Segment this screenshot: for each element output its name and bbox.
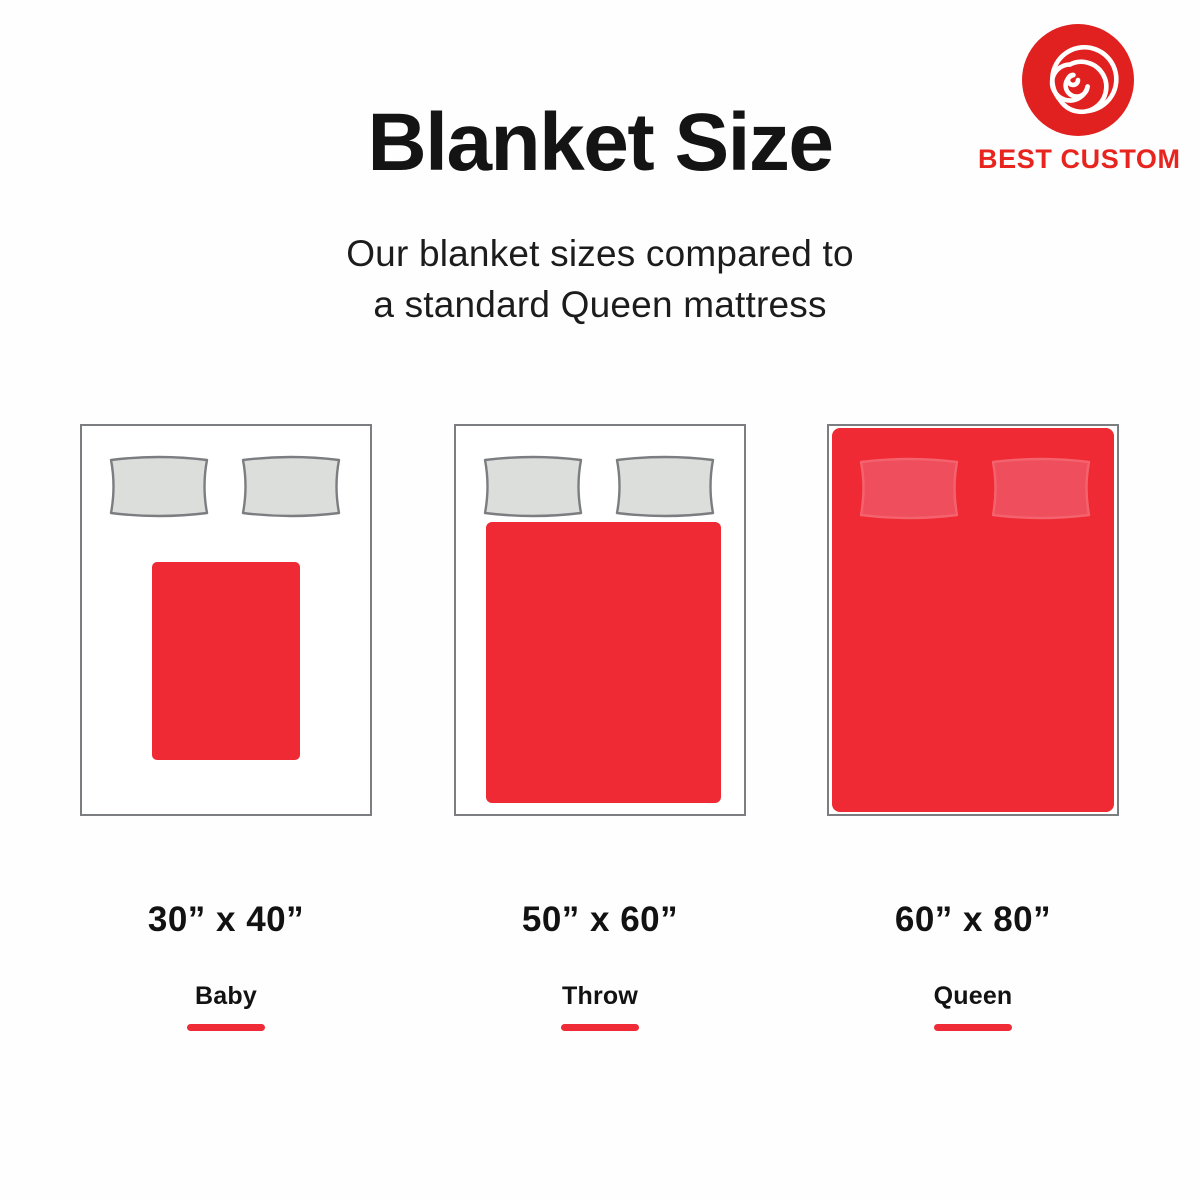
size-name: Throw <box>454 982 746 1011</box>
infographic-canvas: BEST CUSTOM Blanket Size Our blanket siz… <box>0 0 1200 1200</box>
blanket-rectangle-icon <box>152 562 300 760</box>
accent-underline <box>934 1024 1012 1031</box>
size-dimensions: 50” x 60” <box>454 900 746 940</box>
size-caption-baby: 30” x 40” Baby <box>80 900 372 1031</box>
size-dimensions: 30” x 40” <box>80 900 372 940</box>
size-caption-group: 30” x 40” Baby 50” x 60” Throw 60” x 80”… <box>0 900 1200 1060</box>
pillow-icon <box>479 453 587 520</box>
size-caption-queen: 60” x 80” Queen <box>827 900 1119 1031</box>
blanket-rectangle-icon <box>832 428 1114 812</box>
accent-underline <box>187 1024 265 1031</box>
pillow-icon <box>105 453 213 520</box>
size-name: Queen <box>827 982 1119 1011</box>
pillow-icon <box>237 453 345 520</box>
size-name: Baby <box>80 982 372 1011</box>
page-title: Blanket Size <box>0 102 1200 184</box>
page-subtitle: Our blanket sizes compared to a standard… <box>0 228 1200 330</box>
bed-diagram-throw <box>454 424 746 816</box>
subtitle-line-1: Our blanket sizes compared to <box>0 228 1200 279</box>
accent-underline <box>561 1024 639 1031</box>
bed-diagram-group <box>0 424 1200 816</box>
pillow-icon <box>855 455 963 522</box>
size-caption-throw: 50” x 60” Throw <box>454 900 746 1031</box>
size-dimensions: 60” x 80” <box>827 900 1119 940</box>
bed-diagram-baby <box>80 424 372 816</box>
blanket-rectangle-icon <box>486 522 721 803</box>
subtitle-line-2: a standard Queen mattress <box>0 279 1200 330</box>
pillow-icon <box>987 455 1095 522</box>
pillow-icon <box>611 453 719 520</box>
bed-diagram-queen <box>827 424 1119 816</box>
